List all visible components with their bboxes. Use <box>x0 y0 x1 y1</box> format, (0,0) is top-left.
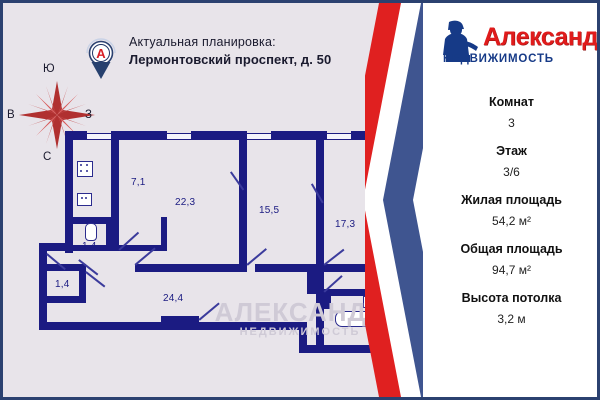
compass-label-right: З <box>85 109 92 121</box>
window-3 <box>247 133 271 140</box>
toilet-icon <box>85 223 97 241</box>
spec-label-floor: Этаж <box>423 144 600 158</box>
spec-label-total-area: Общая площадь <box>423 242 600 256</box>
window-2 <box>167 133 191 140</box>
wall-living-right <box>239 131 247 272</box>
compass-label-top: Ю <box>43 63 55 75</box>
logo-title: Александр <box>483 23 600 52</box>
wall-bathroom-left <box>324 289 331 309</box>
spec-label-rooms: Комнат <box>423 95 600 109</box>
room-area-storage: 1,4 <box>55 279 70 290</box>
listing-header: A Актуальная планировка: Лермонтовский п… <box>81 31 381 87</box>
spec-label-living-area: Жилая площадь <box>423 193 600 207</box>
spec-value-ceiling: 3,2 м <box>423 312 600 326</box>
compass-label-left: В <box>7 109 15 121</box>
door-room3-b <box>324 249 345 266</box>
wall-room3-left-lower <box>316 264 324 353</box>
wall-kitchen-living <box>111 131 119 221</box>
kitchen-sink-icon <box>77 193 92 206</box>
wall-storage-top <box>47 264 86 271</box>
stove-icon <box>77 161 93 177</box>
room-area-kitchen: 7,1 <box>131 177 146 188</box>
spec-value-living-area: 54,2 м² <box>423 214 600 228</box>
floorplan-panel: A Актуальная планировка: Лермонтовский п… <box>3 3 401 397</box>
door-corridor <box>199 302 220 320</box>
window-4 <box>327 133 351 140</box>
spec-value-floor: 3/6 <box>423 165 600 179</box>
spec-value-total-area: 94,7 м² <box>423 263 600 277</box>
plan-caption: Актуальная планировка: <box>129 35 379 49</box>
room-area-living: 22,3 <box>175 197 195 208</box>
wall-corridor-bump <box>161 316 199 323</box>
floorplan-listing-card: A Актуальная планировка: Лермонтовский п… <box>0 0 600 400</box>
spec-value-rooms: 3 <box>423 116 600 130</box>
property-specs-list: Комнат 3 Этаж 3/6 Жилая площадь 54,2 м² … <box>423 95 600 326</box>
room-area-room3: 17,3 <box>335 219 355 230</box>
wall-corridor-right <box>307 264 316 294</box>
svg-text:A: A <box>96 46 106 61</box>
company-logo: Александр НЕДВИЖИМОСТЬ <box>435 19 595 75</box>
spec-label-ceiling: Высота потолка <box>423 291 600 305</box>
window-1 <box>87 133 111 140</box>
wall-hall-right <box>161 217 167 251</box>
room-area-corridor: 24,4 <box>163 293 183 304</box>
wall-bottom-left <box>39 322 307 330</box>
room-area-wc: 1,4 <box>82 241 97 252</box>
address-text: Лермонтовский проспект, д. 50 <box>129 52 379 67</box>
wall-living-bottom <box>135 264 247 272</box>
wall-left-lower <box>39 243 47 330</box>
floor-plan-drawing: АЛЕКСАНДР НЕДВИЖИМОСТЬ 7,1 1,4 22,3 15,5… <box>35 131 390 353</box>
logo-subtitle: НЕДВИЖИМОСТЬ <box>443 53 554 65</box>
room-area-room2: 15,5 <box>259 205 279 216</box>
wall-left-upper <box>65 131 73 253</box>
wall-room2-room3-lower <box>316 205 324 272</box>
door-room2-b <box>247 248 267 265</box>
listing-address-block: Актуальная планировка: Лермонтовский про… <box>129 35 379 67</box>
info-panel: Александр НЕДВИЖИМОСТЬ Комнат 3 Этаж 3/6… <box>423 3 600 397</box>
wall-top-2 <box>111 131 167 140</box>
